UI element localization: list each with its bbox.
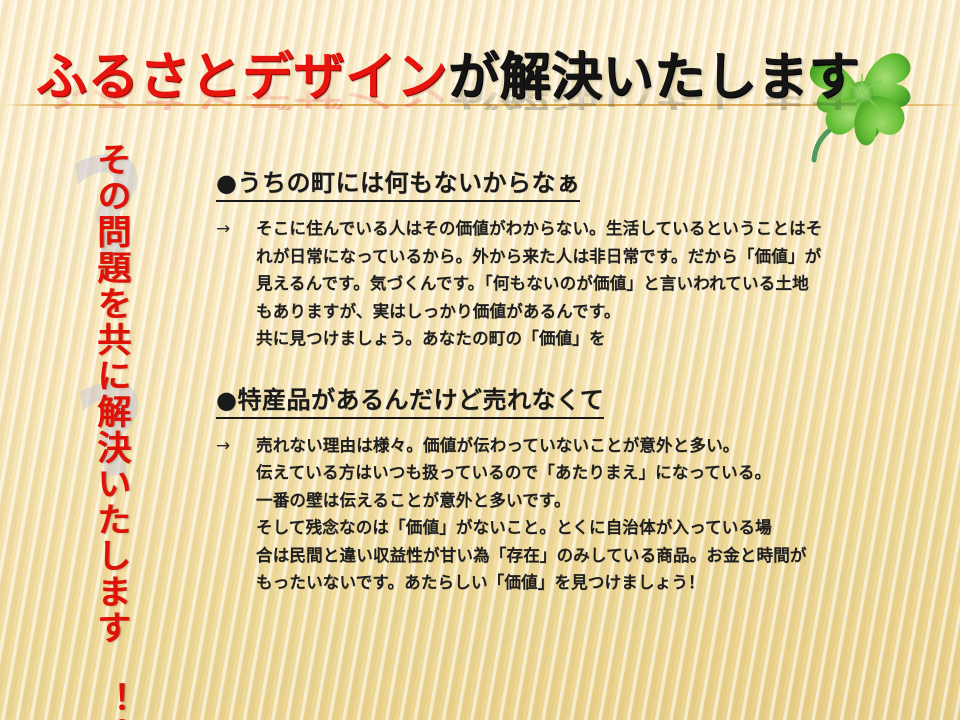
section-paragraph-2: → 売れない理由は様々。価値が伝わっていないことが意外と多い。 伝えている方はい… <box>216 432 932 597</box>
slide-title-red: ふるさとデザイン <box>36 48 448 107</box>
presentation-slide: ? ? <box>0 0 960 720</box>
section-spacer <box>216 359 932 385</box>
section-paragraph-1-lines: そこに住んでいる人はその価値がわからない。生活しているということはそ れが日常に… <box>256 215 932 353</box>
body-line: 合は民間と違い収益性が甘い為「存在」のみしている商品。お金と時間が <box>256 542 932 570</box>
body-line: そして残念なのは「価値」がないこと。とくに自治体が入っている場 <box>256 514 932 542</box>
body-line: れが日常になっているから。外から来た人は非日常です。だから「価値」が <box>256 243 932 271</box>
slide-content: ●うちの町には何もないからなぁ → そこに住んでいる人はその価値がわからない。生… <box>216 168 932 603</box>
body-line: 見えるんです。気づくんです。「何もないのが価値」と言いわれている土地 <box>256 270 932 298</box>
section-paragraph-1: → そこに住んでいる人はその価値がわからない。生活しているということはそ れが日… <box>216 215 932 353</box>
vertical-tagline: その問題を共に解決いたします ！！ <box>92 142 129 632</box>
arrow-icon: → <box>216 215 256 244</box>
body-line: もありますが、実はしっかり価値があるんです。 <box>256 298 932 326</box>
body-line: もったいないです。あたらしい「価値」を見つけましょう！ <box>256 569 932 597</box>
body-line: そこに住んでいる人はその価値がわからない。生活しているということはそ <box>256 215 932 243</box>
slide-title-black: が解決いたします <box>448 48 860 107</box>
section-heading-1: ●うちの町には何もないからなぁ <box>216 168 580 202</box>
body-line: 共に見つけましょう。あなたの町の「価値」を <box>256 325 932 353</box>
content-section-2: ●特産品があるんだけど売れなくて → 売れない理由は様々。価値が伝わっていないこ… <box>216 385 932 597</box>
body-line: 伝えている方はいつも扱っているので「あたりまえ」になっている。 <box>256 459 932 487</box>
section-paragraph-2-lines: 売れない理由は様々。価値が伝わっていないことが意外と多い。 伝えている方はいつも… <box>256 432 932 597</box>
slide-title: ふるさとデザインが解決いたします <box>36 52 816 103</box>
body-line: 一番の壁は伝えることが意外と多いです。 <box>256 487 932 515</box>
body-line: 売れない理由は様々。価値が伝わっていないことが意外と多い。 <box>256 432 932 460</box>
section-heading-2: ●特産品があるんだけど売れなくて <box>216 385 604 419</box>
content-section-1: ●うちの町には何もないからなぁ → そこに住んでいる人はその価値がわからない。生… <box>216 168 932 353</box>
slide-title-block: ふるさとデザインが解決いたします ふるさとデザインが解決いたします <box>36 52 816 172</box>
arrow-icon: → <box>216 432 256 461</box>
